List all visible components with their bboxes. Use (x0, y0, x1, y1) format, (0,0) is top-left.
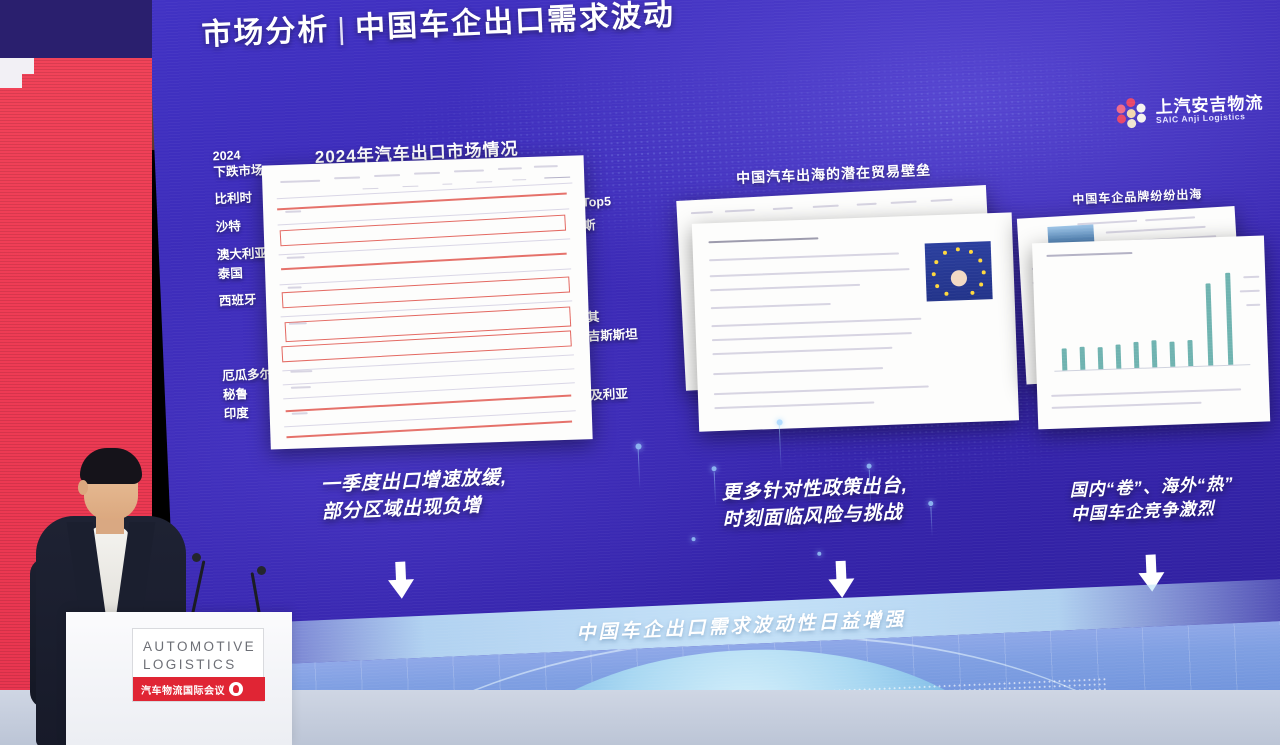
declining-header-text: 下跌市场 (213, 163, 264, 181)
microphone-head-2 (257, 566, 266, 575)
conference-badge-icon (229, 682, 243, 696)
callout-2: 更多针对性政策出台, 时刻面临风险与挑战 (721, 473, 909, 535)
trade-barrier-article-front (692, 212, 1019, 431)
podium: AUTOMOTIVE LOGISTICS 汽车物流国际会议 (66, 612, 292, 745)
chart-bar-4 (1116, 344, 1122, 368)
chart-bar-5 (1133, 342, 1139, 368)
callout-3: 国内“卷”、海外“热” 中国车企竞争激烈 (1069, 472, 1235, 527)
podium-logo-cn: 汽车物流国际会议 (141, 682, 225, 697)
chart-bar-3 (1098, 347, 1104, 369)
declining-item-1: 沙特 (215, 216, 266, 237)
slide-title-separator: | (337, 13, 348, 46)
presentation-screen: 市场分析|中国车企出口需求波动 上汽安吉物流 SAIC Anji Logisti… (148, 0, 1280, 744)
declining-item-8: 秘鲁 (223, 384, 274, 405)
chart-bar-1 (1062, 348, 1068, 370)
export-market-table-document (262, 155, 593, 449)
presentation-scene: ive Logistics International Conference 际… (0, 0, 1280, 745)
declining-item-4: 西班牙 (219, 290, 270, 311)
chart-bar-10 (1225, 273, 1233, 365)
chart-bar-6 (1151, 340, 1157, 367)
declining-item-3: 泰国 (217, 263, 268, 284)
chart-bar-8 (1187, 340, 1193, 366)
down-arrow-2-icon (828, 560, 856, 599)
declining-item-0: 比利时 (214, 188, 265, 209)
eu-flag-portrait-photo (925, 241, 993, 301)
slide-title-left: 市场分析 (201, 13, 330, 51)
declining-item-2: 澳大利亚 (217, 244, 268, 265)
chart-bar-2 (1080, 347, 1086, 370)
anji-hex-dots-icon (1116, 97, 1147, 128)
declining-item-9: 印度 (223, 403, 274, 424)
brand-export-chart-document (1032, 236, 1270, 430)
podium-logo: AUTOMOTIVE LOGISTICS 汽车物流国际会议 (132, 628, 264, 702)
down-arrow-1-icon (387, 561, 415, 600)
brand-name-en: SAIC Anji Logistics (1156, 112, 1264, 126)
declining-item-7: 厄瓜多尔 (222, 365, 273, 386)
podium-logo-line-2: LOGISTICS (143, 656, 263, 674)
microphone-head-1 (192, 553, 201, 562)
callout-1: 一季度出口增速放缓, 部分区域出现负增 (320, 465, 508, 527)
podium-logo-red-band: 汽车物流国际会议 (133, 677, 265, 701)
podium-logo-line-1: AUTOMOTIVE (143, 638, 263, 656)
chart-bar-7 (1169, 342, 1175, 367)
chart-bar-9 (1205, 283, 1213, 365)
brand-logo: 上汽安吉物流 SAIC Anji Logistics (1116, 92, 1264, 128)
